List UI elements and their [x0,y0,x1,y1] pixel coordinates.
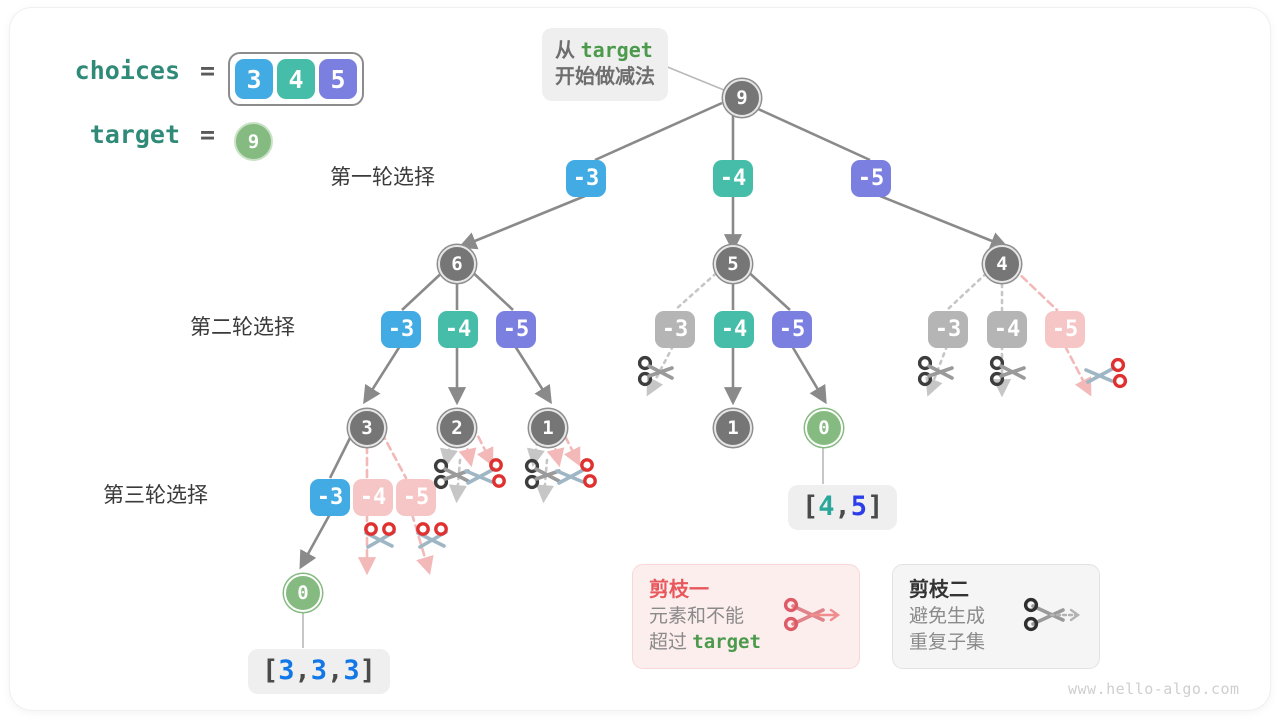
op-box-l2-right-minus5[interactable]: -5 [1045,311,1085,348]
op-box-l2-left-minus3[interactable]: -3 [381,311,421,348]
op-box-l2-right-minus3[interactable]: -3 [928,311,968,348]
legend-one-line1: 元素和不能 [649,604,781,630]
result-left-comma-0: , [295,655,311,686]
legend-two-line1: 避免生成 [909,604,1021,630]
scissors-red-icon [414,521,460,561]
watermark: www.hello-algo.com [1068,680,1240,698]
op-box-l1-minus5[interactable]: -5 [851,160,891,197]
op-box-l3-minus4[interactable]: -4 [353,479,393,516]
tree-node-5[interactable]: 5 [714,245,752,283]
scissors-red-icon [783,594,843,640]
op-box-l3-minus3[interactable]: -3 [310,479,350,516]
result-left-item-1: 3 [311,655,327,686]
scissors-red-icon [466,457,512,497]
choice-chip-0[interactable]: 3 [235,59,273,99]
result-left-item-0: 3 [278,655,294,686]
scissors-gray-icon [636,354,682,394]
op-box-l2-left-minus4[interactable]: -4 [438,311,478,348]
legend-one-line2: 超过 target [649,630,781,656]
result-left-comma-1: , [327,655,343,686]
tree-node-0-mid[interactable]: 0 [805,409,843,447]
scissors-red-icon [1086,356,1132,396]
result-mid-open: [ [802,491,818,522]
op-box-l1-minus4[interactable]: -4 [713,160,753,197]
scissors-red-icon [362,521,408,561]
legend-two-line2: 重复子集 [909,630,1021,656]
tree-node-1-left[interactable]: 1 [529,409,567,447]
tree-node-2[interactable]: 2 [438,409,476,447]
result-box-left: [3,3,3] [248,649,390,694]
tooltip-subtract-from-target: 从 target 开始做减法 [542,28,668,101]
result-left-close: ] [360,655,376,686]
op-box-l2-mid-minus3[interactable]: -3 [655,311,695,348]
round-label-1: 第一轮选择 [330,161,435,191]
choices-equals-sign: = [200,56,215,85]
result-box-mid: [4,5] [788,485,897,530]
legend-pruning-two: 剪枝二 避免生成 重复子集 [892,564,1100,669]
scissors-red-icon [557,457,603,497]
op-box-l1-minus3[interactable]: -3 [566,160,606,197]
result-mid-close: ] [867,491,883,522]
op-box-l2-right-minus4[interactable]: -4 [987,311,1027,348]
scissors-gray-icon [916,354,962,394]
result-mid-item-1: 5 [851,491,867,522]
tooltip-target-keyword: target [581,38,653,62]
tree-node-3[interactable]: 3 [348,409,386,447]
op-box-l3-minus5[interactable]: -5 [396,479,436,516]
op-box-l2-mid-minus4[interactable]: -4 [714,311,754,348]
legend-two-title: 剪枝二 [909,577,1021,604]
legend-one-target-keyword: target [692,631,761,653]
target-label: target [50,120,180,149]
tooltip-line2: 开始做减法 [555,64,655,90]
legend-one-line2-prefix: 超过 [649,632,692,653]
result-mid-item-0: 4 [818,491,834,522]
scissors-gray-icon [988,354,1034,394]
target-value-circle: 9 [234,122,273,161]
tree-node-4[interactable]: 4 [983,245,1021,283]
legend-pruning-one: 剪枝一 元素和不能 超过 target [632,564,860,669]
tree-node-root-9[interactable]: 9 [723,79,761,117]
choices-label: choices [50,56,180,85]
tree-node-1-mid[interactable]: 1 [714,409,752,447]
result-left-item-2: 3 [343,655,359,686]
round-label-3: 第三轮选择 [103,479,208,509]
result-mid-comma-0: , [835,491,851,522]
tree-node-6[interactable]: 6 [438,245,476,283]
tooltip-line1-prefix: 从 [555,40,581,62]
op-box-l2-left-minus5[interactable]: -5 [496,311,536,348]
choice-chip-2[interactable]: 5 [319,59,357,99]
scissors-gray-icon [1023,594,1083,640]
tree-node-0-left[interactable]: 0 [284,574,322,612]
round-label-2: 第二轮选择 [190,311,295,341]
choices-box[interactable]: 3 4 5 [228,52,364,106]
target-equals-sign: = [200,120,215,149]
diagram-card: choices = 3 4 5 target = 9 从 target 开始做减… [10,8,1270,710]
result-left-open: [ [262,655,278,686]
choice-chip-1[interactable]: 4 [277,59,315,99]
op-box-l2-mid-minus5[interactable]: -5 [772,311,812,348]
legend-one-title: 剪枝一 [649,577,781,604]
